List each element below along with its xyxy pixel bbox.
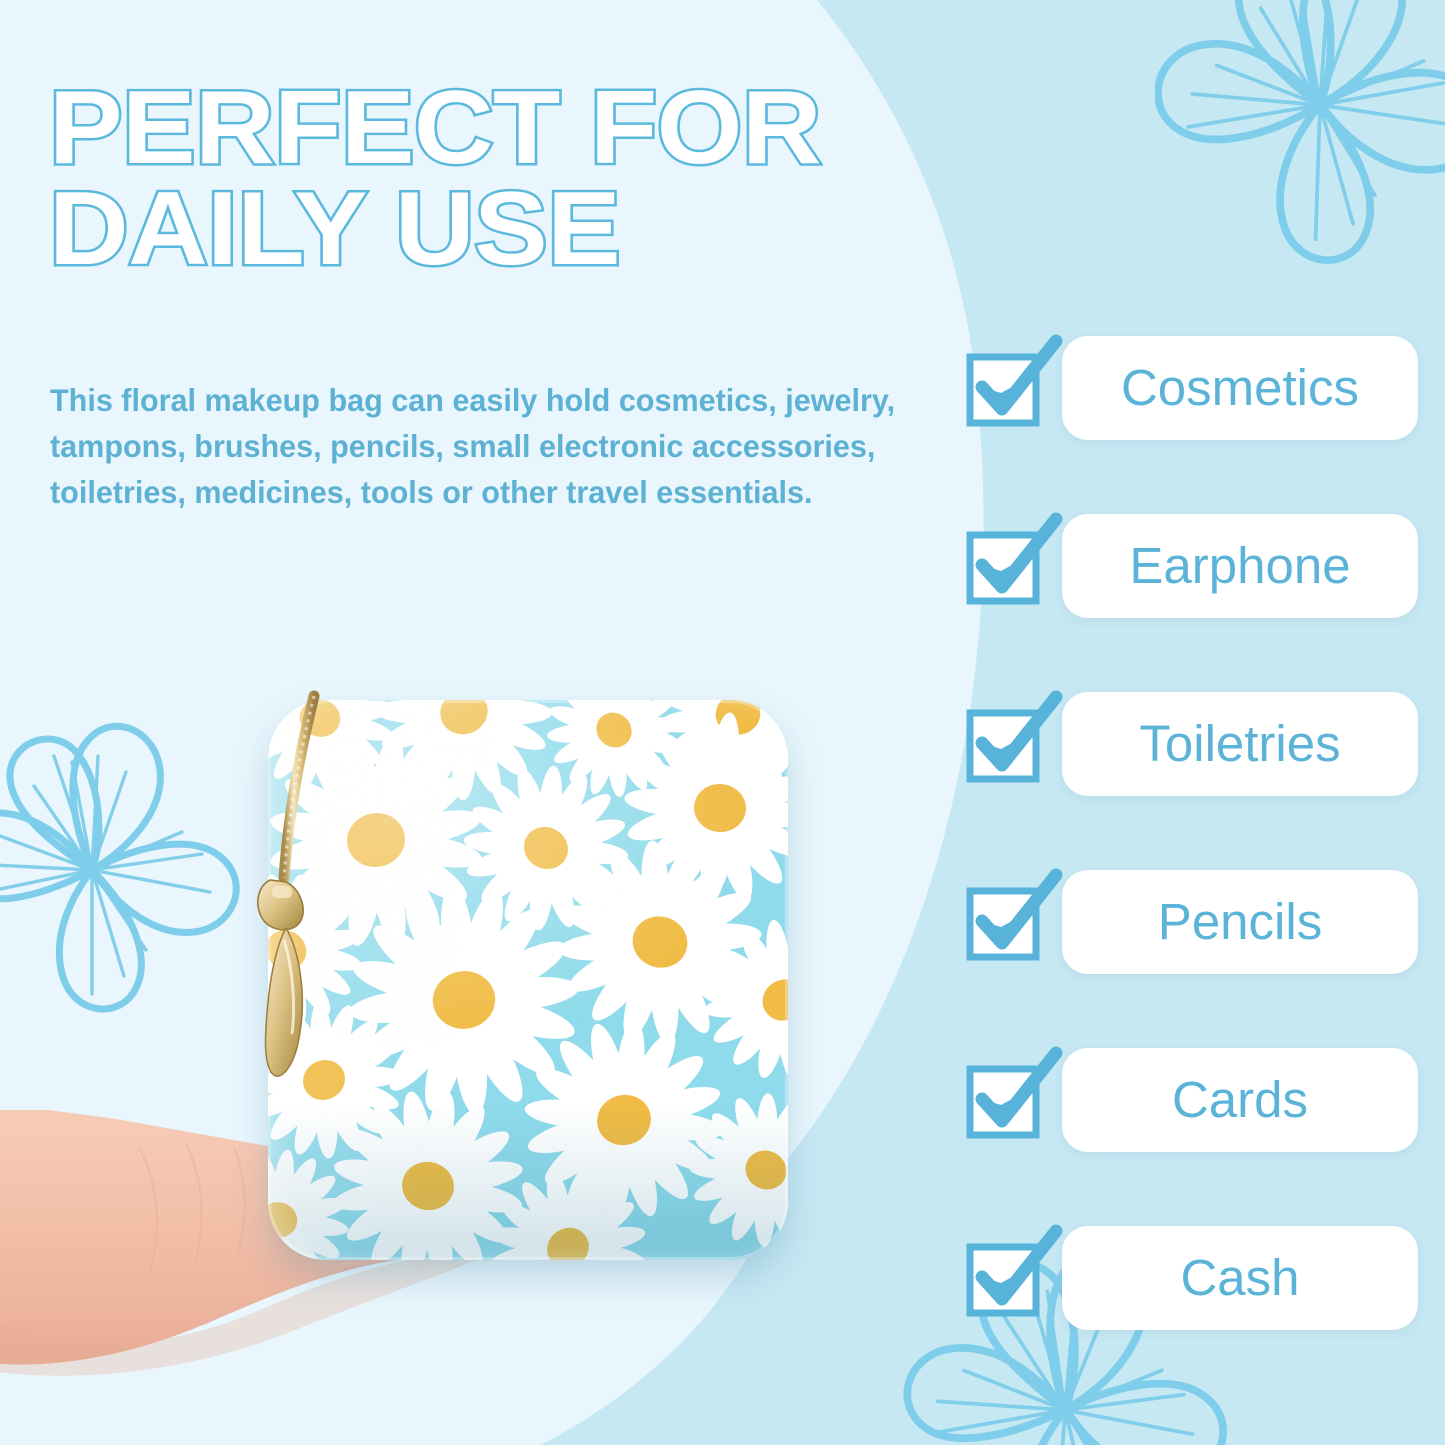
checklist-label: Cosmetics bbox=[1121, 362, 1359, 413]
checklist-label: Toiletries bbox=[1139, 718, 1340, 769]
checklist-label: Cards bbox=[1172, 1074, 1308, 1125]
checkbox-checked-icon[interactable] bbox=[968, 1245, 1034, 1311]
checklist-pill[interactable]: Toiletries bbox=[1062, 692, 1418, 796]
product-image bbox=[0, 640, 860, 1445]
checkbox-checked-icon[interactable] bbox=[968, 1067, 1034, 1133]
checklist-item-cosmetics[interactable]: Cosmetics bbox=[968, 330, 1418, 445]
product-description: This floral makeup bag can easily hold c… bbox=[50, 378, 928, 516]
checkbox-checked-icon[interactable] bbox=[968, 889, 1034, 955]
checkbox-checked-icon[interactable] bbox=[968, 711, 1034, 777]
feature-checklist: Cosmetics Earphone bbox=[968, 330, 1418, 1335]
checklist-pill[interactable]: Cash bbox=[1062, 1226, 1418, 1330]
makeup-bag bbox=[248, 680, 808, 1290]
checklist-label: Earphone bbox=[1129, 540, 1350, 591]
checklist-pill[interactable]: Earphone bbox=[1062, 514, 1418, 618]
checklist-item-cash[interactable]: Cash bbox=[968, 1220, 1418, 1335]
checklist-item-cards[interactable]: Cards bbox=[968, 1042, 1418, 1157]
checklist-label: Cash bbox=[1180, 1252, 1299, 1303]
checklist-item-pencils[interactable]: Pencils bbox=[968, 864, 1418, 979]
page-title: PERFECT FOR DAILY USE bbox=[49, 78, 1067, 280]
checklist-item-earphone[interactable]: Earphone bbox=[968, 508, 1418, 623]
zipper-pull-icon bbox=[248, 690, 358, 1110]
checkbox-checked-icon[interactable] bbox=[968, 355, 1034, 421]
checklist-pill[interactable]: Pencils bbox=[1062, 870, 1418, 974]
checklist-pill[interactable]: Cosmetics bbox=[1062, 336, 1418, 440]
checklist-item-toiletries[interactable]: Toiletries bbox=[968, 686, 1418, 801]
product-infographic: PERFECT FOR DAILY USE This floral makeup… bbox=[0, 0, 1445, 1445]
checklist-pill[interactable]: Cards bbox=[1062, 1048, 1418, 1152]
checklist-label: Pencils bbox=[1158, 896, 1322, 947]
checkbox-checked-icon[interactable] bbox=[968, 533, 1034, 599]
